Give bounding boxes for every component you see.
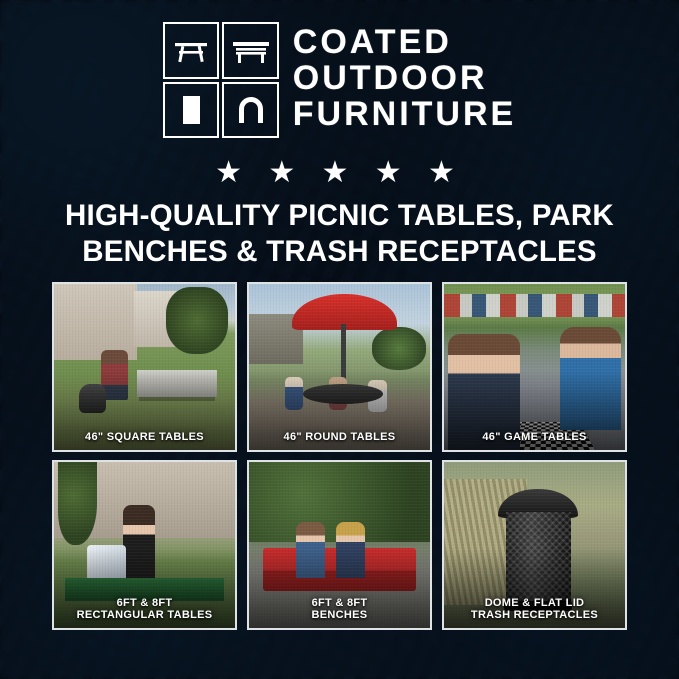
logo-line-3: FURNITURE <box>293 96 516 132</box>
photo-round-tables <box>249 284 430 450</box>
headline-line-2: BENCHES & TRASH RECEPTACLES <box>26 234 653 270</box>
product-tile-game-tables[interactable]: 46" GAME TABLES <box>442 282 627 452</box>
logo-icon-grid <box>163 22 279 138</box>
tile-caption-benches: 6FT & 8FT BENCHES <box>249 597 430 622</box>
arch-trash-can-icon <box>222 82 279 139</box>
headline-line-1: HIGH-QUALITY PICNIC TABLES, PARK <box>26 198 653 234</box>
promo-image-canvas: COATED OUTDOOR FURNITURE ★ ★ ★ ★ ★ HIGH-… <box>0 0 679 679</box>
tile-caption-square-tables: 46" SQUARE TABLES <box>54 431 235 444</box>
photo-game-tables <box>444 284 625 450</box>
star-rating: ★ ★ ★ ★ ★ <box>0 158 679 188</box>
park-bench-icon <box>222 22 279 79</box>
picnic-table-icon <box>163 22 220 79</box>
product-tile-round-tables[interactable]: 46" ROUND TABLES <box>247 282 432 452</box>
photo-square-tables <box>54 284 235 450</box>
promo-content: COATED OUTDOOR FURNITURE ★ ★ ★ ★ ★ HIGH-… <box>0 0 679 679</box>
tile-caption-trash-receptacles: DOME & FLAT LID TRASH RECEPTACLES <box>444 597 625 622</box>
brand-logo: COATED OUTDOOR FURNITURE <box>0 22 679 138</box>
logo-line-1: COATED <box>293 24 516 60</box>
tile-caption-rectangular-tables: 6FT & 8FT RECTANGULAR TABLES <box>54 597 235 622</box>
product-grid: 46" SQUARE TABLES 46" ROUND TABLES <box>52 282 627 630</box>
product-tile-trash-receptacles[interactable]: DOME & FLAT LID TRASH RECEPTACLES <box>442 460 627 630</box>
logo-wordmark: COATED OUTDOOR FURNITURE <box>293 22 516 132</box>
product-tile-rectangular-tables[interactable]: 6FT & 8FT RECTANGULAR TABLES <box>52 460 237 630</box>
product-tile-benches[interactable]: 6FT & 8FT BENCHES <box>247 460 432 630</box>
trash-receptacle-icon <box>163 82 220 139</box>
tile-caption-game-tables: 46" GAME TABLES <box>444 431 625 444</box>
product-tile-square-tables[interactable]: 46" SQUARE TABLES <box>52 282 237 452</box>
headline: HIGH-QUALITY PICNIC TABLES, PARK BENCHES… <box>0 198 679 270</box>
tile-caption-round-tables: 46" ROUND TABLES <box>249 431 430 444</box>
logo-line-2: OUTDOOR <box>293 60 516 96</box>
